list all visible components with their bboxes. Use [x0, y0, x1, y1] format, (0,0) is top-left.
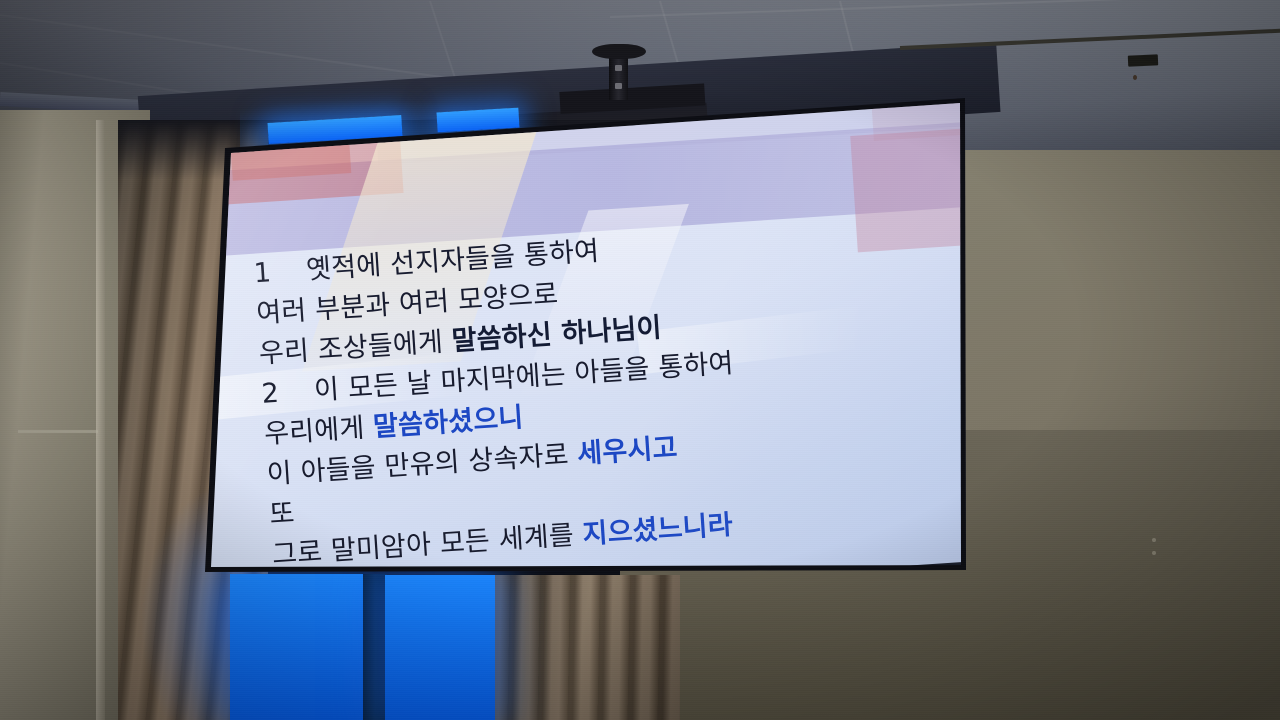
slide-text-emphasis: 지으셨느니라 — [582, 509, 734, 551]
slide-text-plain: 우리에게 — [263, 412, 374, 451]
slide-text-block: 1 옛적에 선지자들을 통하여여러 부분과 여러 모양으로우리 조상들에게 말씀… — [252, 207, 966, 572]
slide-text-plain: 또 — [269, 498, 296, 531]
slide-text-emphasis: 세우시고 — [576, 432, 678, 470]
screen-display-area: 1 옛적에 선지자들을 통하여여러 부분과 여러 모양으로우리 조상들에게 말씀… — [205, 98, 966, 572]
projection-screen: 1 옛적에 선지자들을 통하여여러 부분과 여러 모양으로우리 조상들에게 말씀… — [0, 0, 1280, 720]
slide-text-emphasis: 말씀하셨으니 — [372, 402, 524, 444]
presentation-slide: 1 옛적에 선지자들을 통하여여러 부분과 여러 모양으로우리 조상들에게 말씀… — [205, 98, 966, 572]
photo-scene: 1 옛적에 선지자들을 통하여여러 부분과 여러 모양으로우리 조상들에게 말씀… — [0, 0, 1280, 720]
